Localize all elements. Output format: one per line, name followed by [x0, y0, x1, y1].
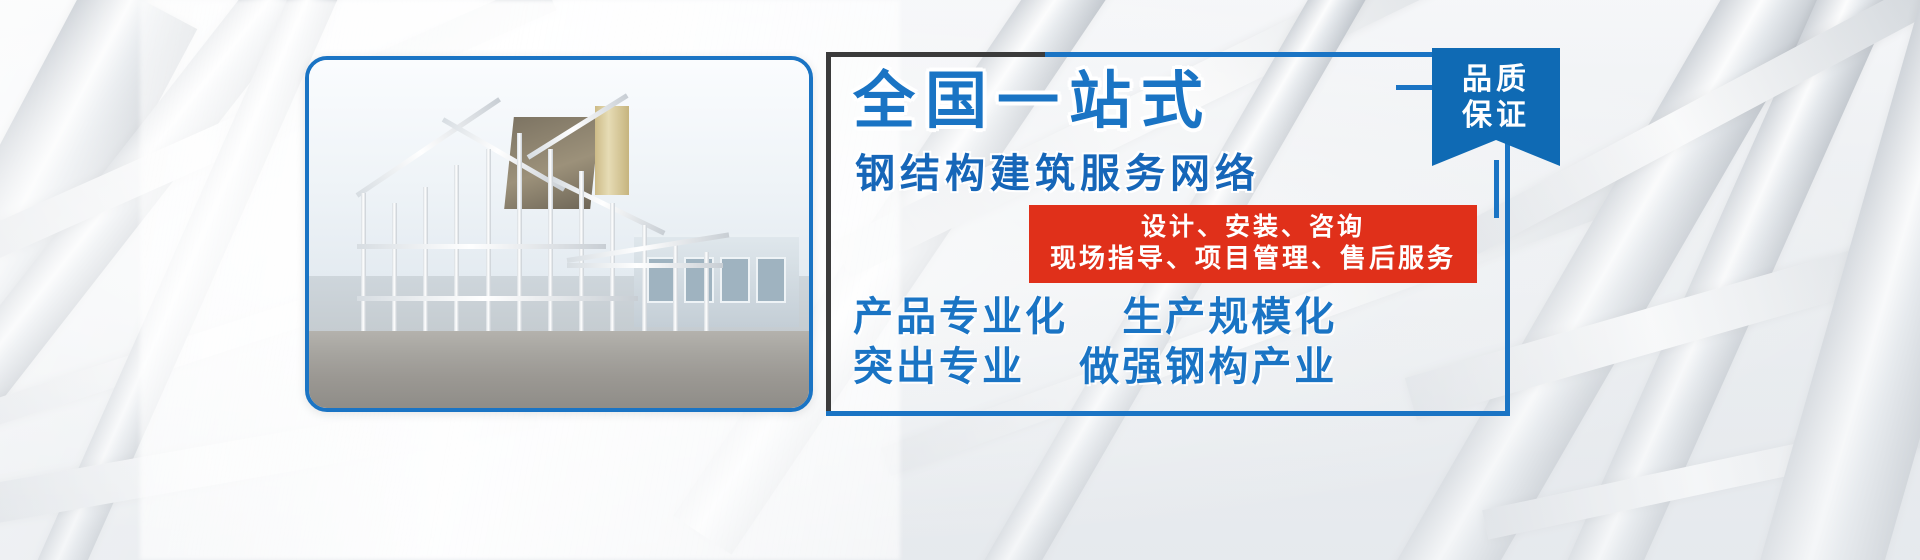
project-photo	[309, 60, 809, 408]
headline-panel: 全国一站式 钢结构建筑服务网络 设计、安装、咨询 现场指导、项目管理、售后服务 …	[826, 52, 1510, 416]
badge-line-2: 保证	[1432, 98, 1560, 134]
slogan-row-2: 突出专业 做强钢构产业	[853, 345, 1337, 389]
badge-text: 品质 保证	[1432, 62, 1560, 134]
badge-tail-left	[1396, 85, 1436, 90]
slogan-1-left: 产品专业化	[853, 295, 1068, 339]
quality-guarantee-badge: 品质 保证	[1432, 48, 1560, 166]
promo-banner: 全国一站式 钢结构建筑服务网络 设计、安装、咨询 现场指导、项目管理、售后服务 …	[0, 0, 1920, 560]
badge-tail-bottom	[1494, 160, 1499, 218]
slogan-1-right: 生产规模化	[1122, 295, 1337, 339]
slogan-2-left: 突出专业	[853, 345, 1025, 389]
badge-line-1: 品质	[1432, 62, 1560, 98]
service-list-box: 设计、安装、咨询 现场指导、项目管理、售后服务	[1029, 205, 1477, 283]
frame-bottom-bar	[826, 411, 1510, 416]
slogan-row-1: 产品专业化 生产规模化	[853, 295, 1337, 339]
service-line-1: 设计、安装、咨询	[1029, 212, 1477, 242]
headline-sub: 钢结构建筑服务网络	[855, 153, 1260, 195]
headline-main: 全国一站式	[853, 71, 1213, 133]
project-photo-card	[305, 56, 813, 412]
service-line-2: 现场指导、项目管理、售后服务	[1029, 242, 1477, 274]
steel-frame-house	[349, 95, 739, 366]
slogan-2-right: 做强钢构产业	[1079, 345, 1337, 389]
